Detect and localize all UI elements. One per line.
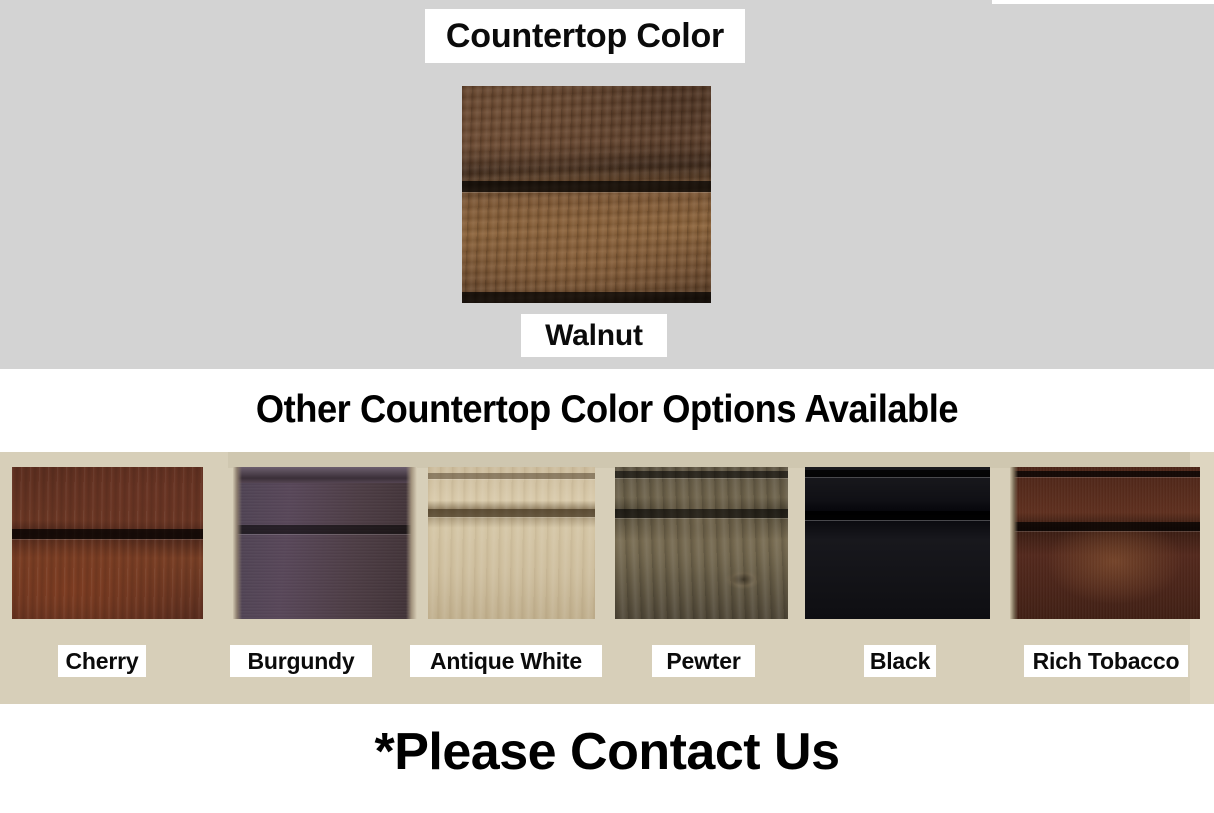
wood-grain-texture: [233, 467, 417, 619]
wood-grain-texture: [615, 467, 788, 619]
swatch-label-pewter: Pewter: [652, 645, 755, 677]
board-groove: [615, 509, 788, 518]
contact-us-note: *Please Contact Us: [0, 722, 1214, 782]
swatch-antique-white[interactable]: [428, 467, 595, 619]
swatch-label-burgundy: Burgundy: [230, 645, 372, 677]
board-top-bevel: [233, 467, 417, 483]
featured-swatch-label: Walnut: [521, 314, 667, 357]
options-photo-seam: [228, 452, 1214, 468]
board-groove-upper: [1010, 471, 1200, 477]
top-right-corner-notch: [992, 0, 1214, 4]
board-groove: [1010, 522, 1200, 531]
wood-grain-texture: [805, 467, 990, 619]
board-groove: [12, 529, 203, 539]
board-groove-upper: [805, 470, 990, 477]
swatch-label-black: Black: [864, 645, 936, 677]
board-edge-left: [233, 467, 242, 619]
board-groove-upper: [428, 473, 595, 479]
swatch-pewter[interactable]: [615, 467, 788, 619]
swatch-black[interactable]: [805, 467, 990, 619]
board-groove: [233, 525, 417, 534]
page-title: Countertop Color: [425, 9, 745, 63]
board-edge-left: [1010, 467, 1018, 619]
swatch-label-antique-white: Antique White: [410, 645, 602, 677]
board-edge-right: [406, 467, 417, 619]
featured-swatch-walnut[interactable]: [462, 86, 711, 303]
board-groove: [428, 509, 595, 517]
swatch-label-cherry: Cherry: [58, 645, 146, 677]
other-options-heading: Other Countertop Color Options Available: [42, 388, 1171, 432]
board-groove-upper: [615, 471, 788, 478]
wood-grain-texture: [12, 467, 203, 619]
swatch-rich-tobacco[interactable]: [1010, 467, 1200, 619]
board-groove-lower: [462, 292, 711, 303]
swatch-burgundy[interactable]: [233, 467, 417, 619]
wood-grain-texture: [428, 467, 595, 619]
countertop-color-options-graphic: Countertop Color Walnut Other Countertop…: [0, 0, 1214, 813]
board-groove: [805, 511, 990, 520]
swatch-label-rich-tobacco: Rich Tobacco: [1024, 645, 1188, 677]
board-groove-upper: [462, 181, 711, 192]
swatch-cherry[interactable]: [12, 467, 203, 619]
wood-grain-texture: [1010, 467, 1200, 619]
wood-grain-texture: [462, 86, 711, 303]
